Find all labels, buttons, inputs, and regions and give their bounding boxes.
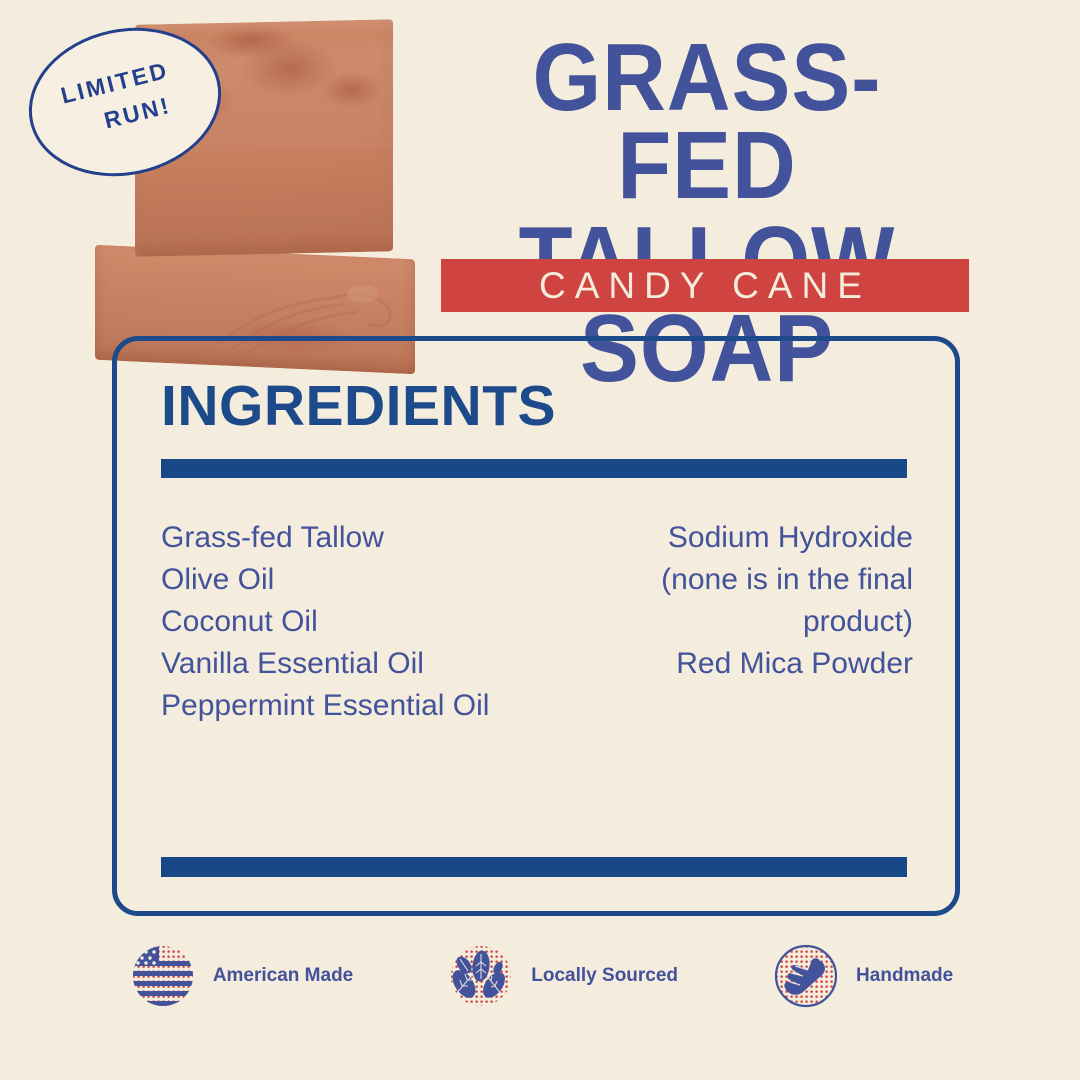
poster-canvas: LIMITED RUN! GRASS-FED TALLOW SOAP CANDY… [0,0,1080,1080]
trust-badge-row: American Made [0,940,1080,1012]
leaves-icon [445,940,517,1012]
list-item: Coconut Oil [161,601,552,643]
ingredients-left-column: Grass-fed Tallow Olive Oil Coconut Oil V… [161,517,552,727]
list-item: Red Mica Powder [567,643,913,685]
divider-top [161,459,907,478]
trust-badge-american-made: American Made [127,940,353,1012]
list-item: Vanilla Essential Oil [161,643,552,685]
american-flag-icon [127,940,199,1012]
ingredients-right-column: Sodium Hydroxide (none is in the final p… [567,517,913,727]
trust-badge-label: American Made [213,965,353,987]
divider-bottom [161,857,907,877]
ingredients-heading: INGREDIENTS [161,373,556,439]
trust-badge-label: Handmade [856,965,953,987]
ingredients-columns: Grass-fed Tallow Olive Oil Coconut Oil V… [161,517,913,727]
list-item: Grass-fed Tallow [161,517,552,559]
list-item: product) [567,601,913,643]
list-item: Sodium Hydroxide [567,517,913,559]
title-line-1: GRASS-FED [459,34,956,211]
trust-badge-handmade: Handmade [770,940,953,1012]
flavor-label: CANDY CANE [539,265,871,307]
trust-badge-label: Locally Sourced [531,965,678,987]
list-item: Peppermint Essential Oil [161,685,552,727]
ingredients-card: INGREDIENTS Grass-fed Tallow Olive Oil C… [112,336,960,916]
flavor-banner: CANDY CANE [441,259,969,312]
list-item: Olive Oil [161,559,552,601]
trust-badge-locally-sourced: Locally Sourced [445,940,678,1012]
list-item: (none is in the final [567,559,913,601]
hand-icon [770,940,842,1012]
